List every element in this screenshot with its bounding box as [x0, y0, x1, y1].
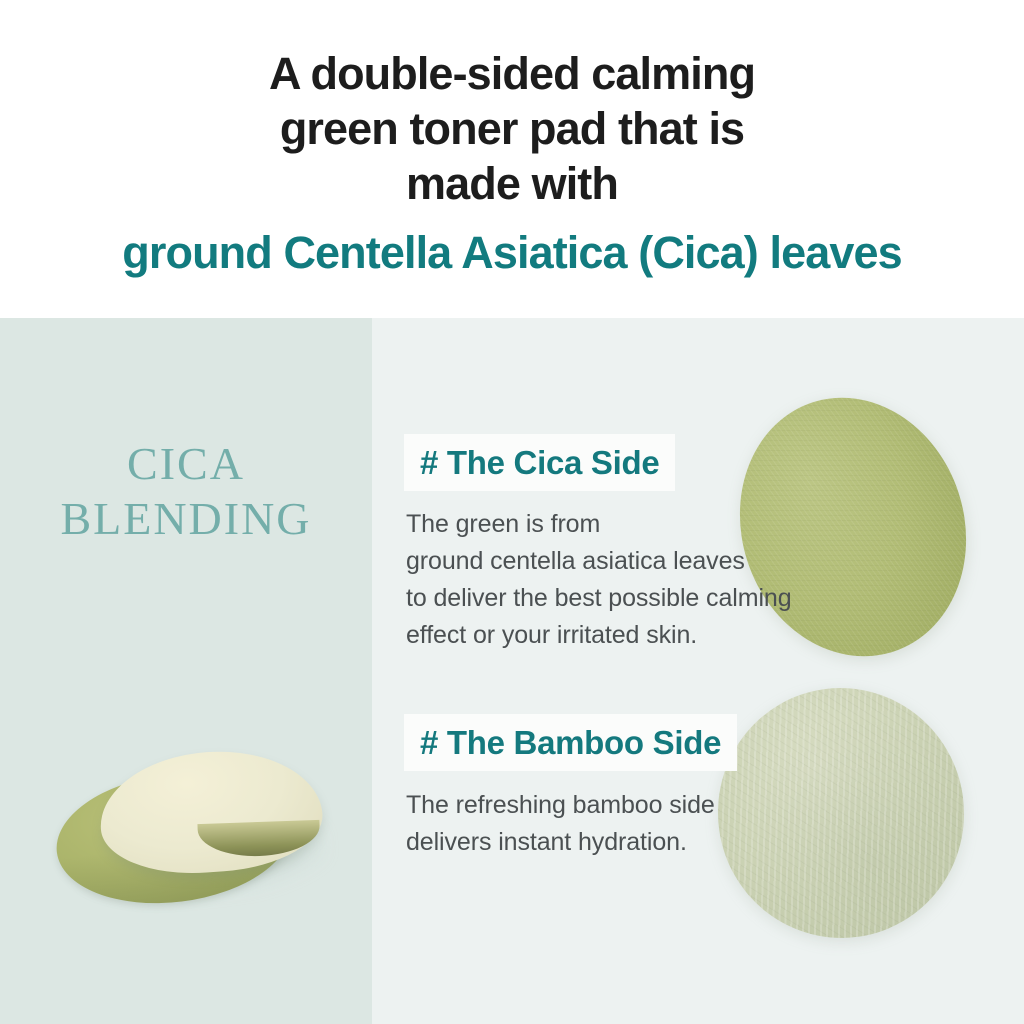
cica-side-heading: # The Cica Side	[404, 434, 675, 491]
headline-accent-line: ground Centella Asiatica (Cica) leaves	[122, 225, 901, 281]
bamboo-side-body-text: The refreshing bamboo side delivers inst…	[406, 787, 926, 861]
headline-line-3: made with	[406, 156, 618, 211]
headline-line-1: A double-sided calming	[269, 46, 755, 101]
headline-line-2: green toner pad that is	[280, 101, 744, 156]
folded-toner-pad-photo	[48, 748, 328, 928]
left-panel: CICA BLENDING	[0, 318, 372, 1024]
bamboo-side-heading: # The Bamboo Side	[404, 714, 737, 771]
right-panel	[372, 318, 1024, 1024]
product-infographic: A double-sided calming green toner pad t…	[0, 0, 1024, 1024]
header-banner: A double-sided calming green toner pad t…	[0, 0, 1024, 318]
cica-side-body-text: The green is from ground centella asiati…	[406, 506, 966, 654]
cica-blending-label: CICA BLENDING	[0, 436, 372, 546]
